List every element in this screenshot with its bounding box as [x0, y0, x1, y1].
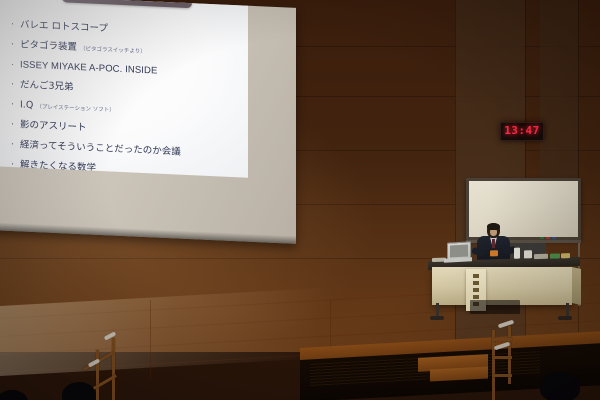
documents [534, 254, 548, 259]
bullet-text: I.Q [20, 99, 33, 111]
green-folder [550, 253, 560, 258]
water-bottle [524, 250, 532, 258]
bullet-text: 影のアスリート [20, 119, 87, 133]
marker-red-icon [546, 237, 550, 239]
paper-cup [514, 248, 520, 259]
slide-bullet-6: 影のアスリート [20, 119, 242, 142]
desk-caster [558, 316, 572, 320]
whiteboard-surface [469, 181, 578, 237]
marker-blue-icon [552, 237, 556, 239]
bullet-text: ISSEY MIYAKE A-POC. INSIDE [20, 59, 157, 76]
marker-green-icon [540, 237, 544, 239]
slide-bullet-1: バレエ ロトスコープ [20, 19, 242, 42]
bullet-text: バレエ ロトスコープ [20, 19, 108, 34]
floor-seam [150, 300, 151, 380]
bullet-note: （ピタゴラスイッチより） [80, 46, 146, 55]
bullet-text: 経済ってそういうことだったのか会議 [20, 139, 181, 157]
clock-time-display: 13:47 [501, 125, 543, 137]
handrail-bar [492, 374, 512, 377]
desk-caster [430, 316, 444, 320]
slide-bullet-4: だんご3兄弟 [20, 79, 242, 102]
bullet-note: （プレイステーション ソフト） [36, 104, 114, 114]
slide-bullet-3: ISSEY MIYAKE A-POC. INSIDE [20, 59, 242, 82]
laptop-display [450, 244, 468, 257]
bullet-text: だんご3兄弟 [20, 79, 74, 92]
handrail-bar [492, 338, 512, 341]
projection-screen: 自己紹介を兼ねて バレエ ロトスコープ ピタゴラ装置（ピタゴラスイッチより） I… [0, 0, 296, 244]
presenter-tie [492, 239, 495, 248]
lecture-hall-photo: 自己紹介を兼ねて バレエ ロトスコープ ピタゴラ装置（ピタゴラスイッチより） I… [0, 0, 600, 400]
presenter-desk-side-panel [572, 267, 581, 305]
slide-bullet-5: I.Q（プレイステーション ソフト） [20, 99, 242, 122]
presentation-slide: 自己紹介を兼ねて バレエ ロトスコープ ピタゴラ装置（ピタゴラスイッチより） I… [0, 0, 248, 178]
slide-bullet-7: 経済ってそういうことだったのか会議 [20, 139, 242, 162]
slide-bullet-list: バレエ ロトスコープ ピタゴラ装置（ピタゴラスイッチより） ISSEY MIYA… [20, 19, 242, 177]
screen-surface: 自己紹介を兼ねて バレエ ロトスコープ ピタゴラ装置（ピタゴラスイッチより） I… [0, 0, 248, 178]
handrail-bar [492, 356, 512, 359]
bullet-text: ピタゴラ装置 [20, 39, 77, 53]
orange-object [490, 250, 498, 256]
audience-head [540, 372, 580, 400]
desk-under-shadow [470, 300, 520, 314]
wall-clock: 13:47 [500, 122, 544, 141]
presenter-hair [487, 223, 500, 230]
handrail-post [96, 350, 99, 400]
slide-bullet-2: ピタゴラ装置（ピタゴラスイッチより） [20, 39, 242, 62]
handrail-post [112, 338, 115, 400]
yellow-folder [561, 253, 570, 258]
whiteboard [466, 178, 581, 240]
wall-pillar-secondary [540, 0, 578, 200]
